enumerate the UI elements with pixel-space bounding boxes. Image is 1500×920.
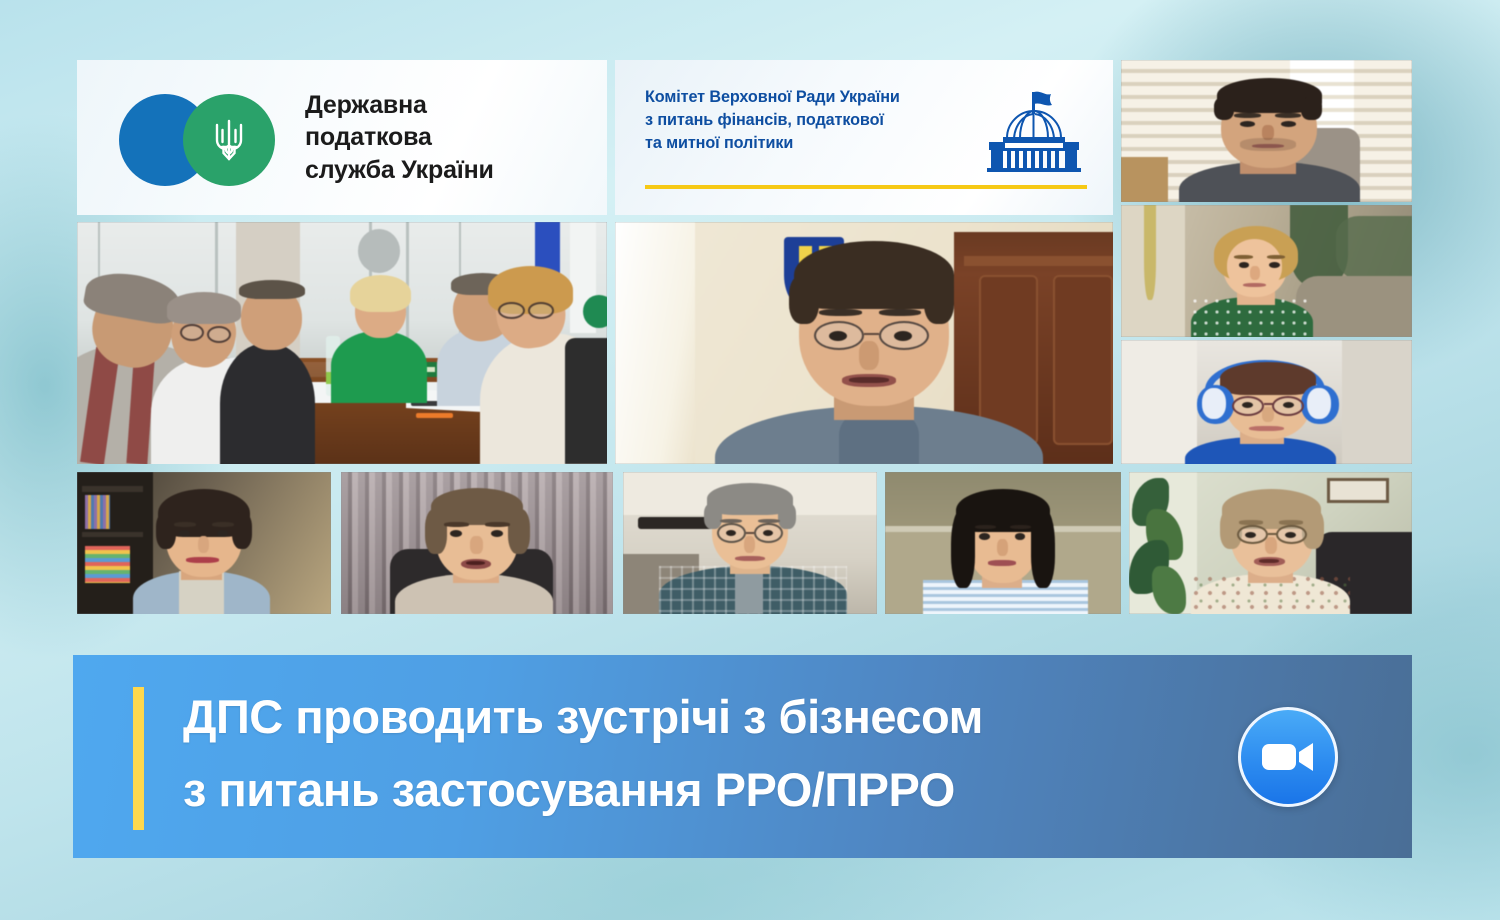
tile-participant-woman-green[interactable] bbox=[1121, 205, 1412, 337]
parliament-building-icon bbox=[987, 90, 1081, 179]
green-circle-icon bbox=[183, 94, 275, 186]
tile-participant-man-plaid[interactable] bbox=[623, 472, 877, 614]
tax-service-title: Державна податкова служба України bbox=[305, 89, 494, 187]
zoom-video-camera-icon[interactable] bbox=[1238, 707, 1338, 807]
tile-active-speaker[interactable] bbox=[615, 222, 1113, 464]
headline-banner: ДПС проводить зустрічі з бізнесом з пита… bbox=[73, 655, 1412, 858]
tile-logo-tax-service: Державна податкова служба України bbox=[77, 60, 607, 215]
meeting-screenshot-root: Державна податкова служба України Коміте… bbox=[0, 0, 1500, 920]
tile-meeting-room[interactable] bbox=[77, 222, 607, 464]
tile-participant-woman-plant[interactable] bbox=[1129, 472, 1412, 614]
tile-participant-woman-stripe[interactable] bbox=[885, 472, 1121, 614]
banner-accent-bar bbox=[133, 687, 144, 830]
tile-participant-woman-curtain[interactable] bbox=[341, 472, 613, 614]
tax-service-marks bbox=[119, 90, 283, 186]
banner-headline: ДПС проводить зустрічі з бізнесом з пита… bbox=[183, 681, 983, 827]
tile-logo-committee: Комітет Верховної Ради України з питань … bbox=[615, 60, 1113, 215]
ukraine-trident-icon bbox=[209, 115, 249, 165]
tile-participant-man-blinds[interactable] bbox=[1121, 60, 1412, 202]
tile-participant-woman-denim[interactable] bbox=[77, 472, 331, 614]
tile-participant-headset[interactable] bbox=[1121, 340, 1412, 464]
committee-accent-rule bbox=[645, 185, 1087, 189]
committee-title: Комітет Верховної Ради України з питань … bbox=[645, 86, 900, 155]
